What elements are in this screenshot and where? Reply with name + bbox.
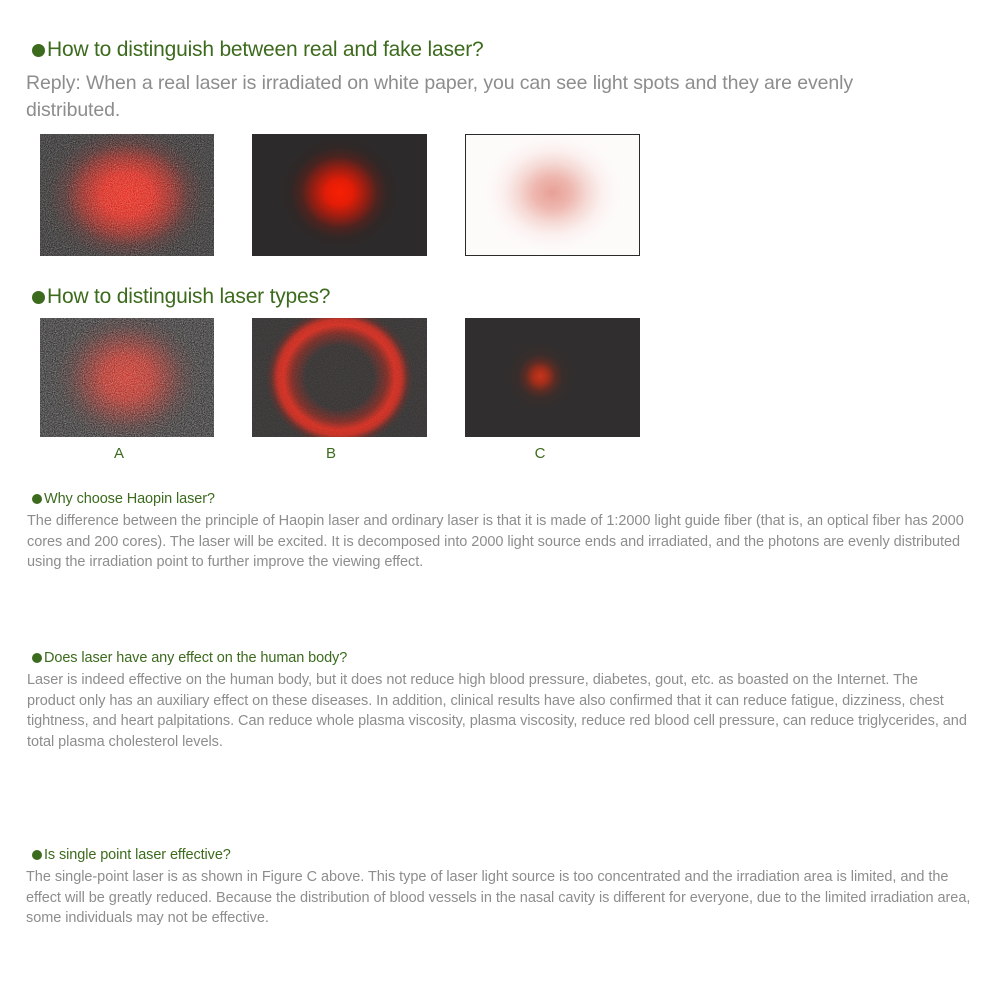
bullet-dot-icon [32,291,45,304]
figure-glow [40,318,214,437]
figure-glow [465,318,640,437]
body-why-haopin: The difference between the principle of … [27,511,975,573]
heading-text: How to distinguish between real and fake… [47,38,484,62]
figure-glow-ring [252,318,427,437]
heading-single-point: Is single point laser effective? [32,847,231,863]
figure-white-paper [465,134,640,256]
bullet-dot-icon [32,494,42,504]
figure-caption-b: B [281,445,381,462]
figure-type-b [252,318,427,437]
body-real-vs-fake: Reply: When a real laser is irradiated o… [26,70,886,124]
bullet-dot-icon [32,653,42,663]
heading-text: Why choose Haopin laser? [44,491,215,507]
heading-why-haopin: Why choose Haopin laser? [32,491,215,507]
bullet-dot-icon [32,850,42,860]
bullet-dot-icon [32,44,45,57]
figure-glow [466,135,639,255]
heading-text: Is single point laser effective? [44,847,231,863]
figure-type-c [465,318,640,437]
figure-smooth-red [252,134,427,256]
heading-real-vs-fake: How to distinguish between real and fake… [32,38,484,62]
heading-human-body-effect: Does laser have any effect on the human … [32,650,347,666]
figure-glow [252,134,427,256]
figure-speckled-red [40,134,214,256]
heading-laser-types: How to distinguish laser types? [32,285,330,309]
faq-page: How to distinguish between real and fake… [0,0,1000,1000]
body-human-body-effect: Laser is indeed effective on the human b… [27,670,967,752]
heading-text: Does laser have any effect on the human … [44,650,347,666]
body-single-point: The single-point laser is as shown in Fi… [26,867,974,929]
figure-caption-a: A [69,445,169,462]
figure-type-a [40,318,214,437]
heading-text: How to distinguish laser types? [47,285,330,309]
figure-glow [40,134,214,256]
figure-caption-c: C [490,445,590,462]
